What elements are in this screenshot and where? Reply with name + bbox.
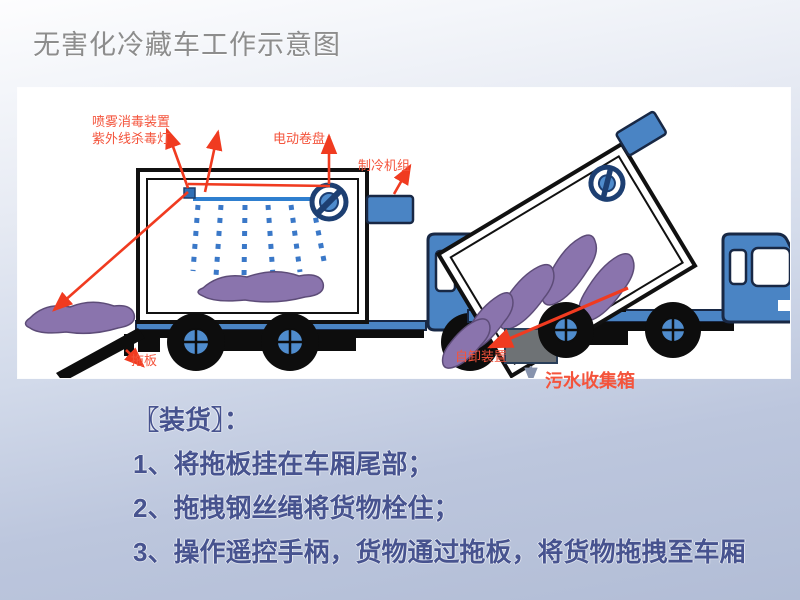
label-spray-disinfect: 喷雾消毒装置 [92,114,170,130]
label-tow-board: 拖板 [131,353,157,369]
slide-canvas: 无害化冷藏车工作示意图 [0,0,800,600]
step-item-3: 3、操作遥控手柄，货物通过拖板，将货物拖拽至车厢 [133,530,793,574]
diagram-panel: 喷雾消毒装置 紫外线杀毒灯 电动卷盘 制冷机组 拖板 自卸装置 污水收集箱 [18,88,790,378]
electric-reel-icon [312,185,346,219]
label-electric-reel: 电动卷盘 [273,131,325,147]
step-item-1: 1、将拖板挂在车厢尾部； [133,442,793,486]
label-uv-lamp: 紫外线杀毒灯 [92,131,170,147]
steps-block: 〖装货〗： 1、将拖板挂在车厢尾部； 2、拖拽钢丝绳将货物栓住； 3、操作遥控手… [133,398,793,574]
carcass-on-ground [26,302,135,333]
label-self-unload-device: 自卸装置 [455,349,507,365]
label-refrigeration-unit: 制冷机组 [358,158,410,174]
step-item-2: 2、拖拽钢丝绳将货物栓住； [133,486,793,530]
label-sewage-tank: 污水收集箱 [545,373,635,389]
steps-heading: 〖装货〗： [133,398,793,442]
refrigeration-unit-shape [367,196,413,223]
page-title: 无害化冷藏车工作示意图 [33,28,341,62]
right-truck [438,111,790,378]
